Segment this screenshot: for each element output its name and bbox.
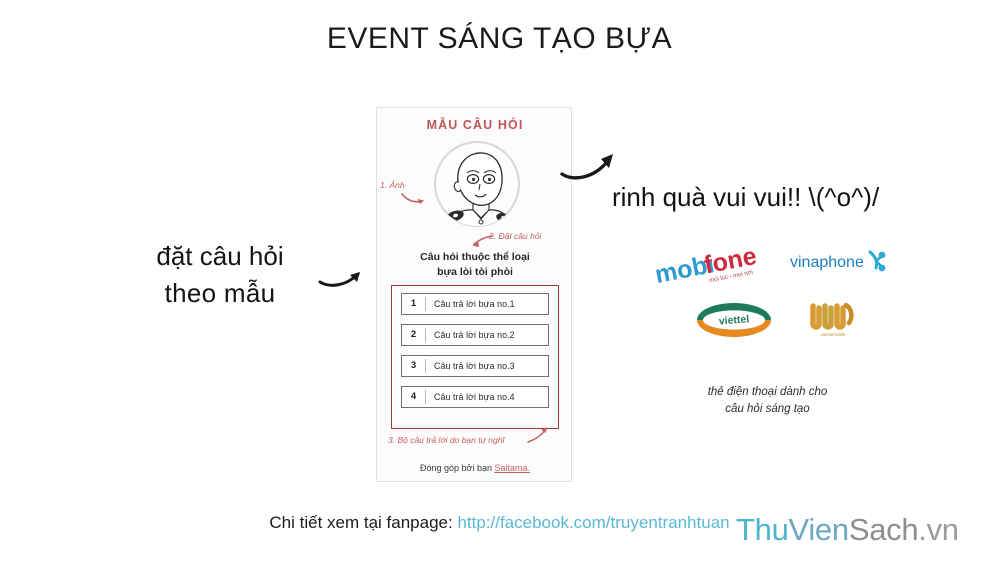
- fanpage-link[interactable]: http://facebook.com/truyentranhtuan: [457, 513, 729, 532]
- logos-caption-line2: câu hỏi sáng tạo: [660, 401, 875, 418]
- vietnamobile-logo: vietnamobile: [805, 300, 861, 340]
- mobifone-logo: mobi fone mọi lúc - mọi nơi: [653, 242, 775, 288]
- svg-text:vietnamobile: vietnamobile: [821, 332, 846, 337]
- step3-label: 3. Bộ câu trả lời do bạn tự nghĩ: [388, 435, 504, 445]
- answer-row[interactable]: 1 Câu trả lời bựa no.1: [401, 293, 549, 315]
- left-caption-line2: theo mẫu: [120, 275, 320, 312]
- answer-row[interactable]: 2 Câu trả lời bựa no.2: [401, 324, 549, 346]
- left-caption-line1: đặt câu hỏi: [120, 238, 320, 275]
- viettel-logo: viettel: [695, 300, 773, 340]
- curved-arrow-right-icon: [318, 258, 368, 292]
- right-caption: rinh quà vui vui!! \(^o^)/: [612, 182, 879, 213]
- saitama-portrait-icon: [434, 141, 520, 227]
- answer-number: 1: [402, 297, 426, 311]
- logos-caption: thẻ điện thoại dành cho câu hỏi sáng tạo: [660, 384, 875, 419]
- small-curved-arrow-right-icon: [401, 191, 427, 207]
- curved-arrow-right-icon: [560, 138, 622, 186]
- credit-prefix: Đóng góp bởi bạn: [420, 463, 494, 473]
- answer-number: 4: [402, 390, 426, 404]
- carrier-logos: mobi fone mọi lúc - mọi nơi vinaphone: [645, 238, 885, 360]
- svg-text:viettel: viettel: [718, 313, 749, 327]
- answer-row[interactable]: 4 Câu trả lời bựa no.4: [401, 386, 549, 408]
- card-title: MẪU CÂU HỎI: [377, 118, 573, 132]
- question-template-card: MẪU CÂU HỎI: [376, 107, 572, 482]
- watermark-part4: .vn: [918, 512, 958, 547]
- answer-text: Câu trả lời bựa no.3: [426, 361, 515, 371]
- step2-label: 2. Đặt câu hỏi: [489, 231, 541, 241]
- answer-number: 2: [402, 328, 426, 342]
- left-caption: đặt câu hỏi theo mẫu: [120, 238, 320, 312]
- logos-caption-line1: thẻ điện thoại dành cho: [660, 384, 875, 401]
- slide-canvas: EVENT SÁNG TẠO BỰA đặt câu hỏi theo mẫu …: [0, 0, 999, 562]
- card-subtitle-line1: Câu hỏi thuộc thể loại: [420, 251, 530, 263]
- vinaphone-logo: vinaphone: [790, 246, 890, 280]
- answers-list: 1 Câu trả lời bựa no.1 2 Câu trả lời bựa…: [391, 285, 559, 429]
- step1-label: 1. Ảnh: [380, 180, 405, 190]
- watermark-part2: Vien: [789, 512, 849, 547]
- answer-text: Câu trả lời bựa no.1: [426, 299, 515, 309]
- card-subtitle: Câu hỏi thuộc thể loại bựa lòi tòi phòi: [377, 250, 573, 280]
- footer-prefix: Chi tiết xem tại fanpage:: [269, 513, 457, 532]
- page-title: EVENT SÁNG TẠO BỰA: [0, 22, 999, 56]
- answer-text: Câu trả lời bựa no.4: [426, 392, 515, 402]
- watermark: ThuVienSach.vn: [736, 512, 959, 548]
- watermark-part1: Thu: [736, 512, 789, 547]
- answer-row[interactable]: 3 Câu trả lời bựa no.3: [401, 355, 549, 377]
- card-credit: Đóng góp bởi bạn Saitama.: [377, 463, 573, 473]
- small-curved-arrow-left-icon: [471, 235, 493, 249]
- credit-author-link[interactable]: Saitama.: [494, 463, 530, 473]
- svg-text:vinaphone: vinaphone: [790, 254, 864, 271]
- answer-text: Câu trả lời bựa no.2: [426, 330, 515, 340]
- small-arrow-up-right-icon: [526, 426, 550, 444]
- answer-number: 3: [402, 359, 426, 373]
- card-subtitle-line2: bựa lòi tòi phòi: [437, 266, 513, 278]
- watermark-part3: Sach: [849, 512, 918, 547]
